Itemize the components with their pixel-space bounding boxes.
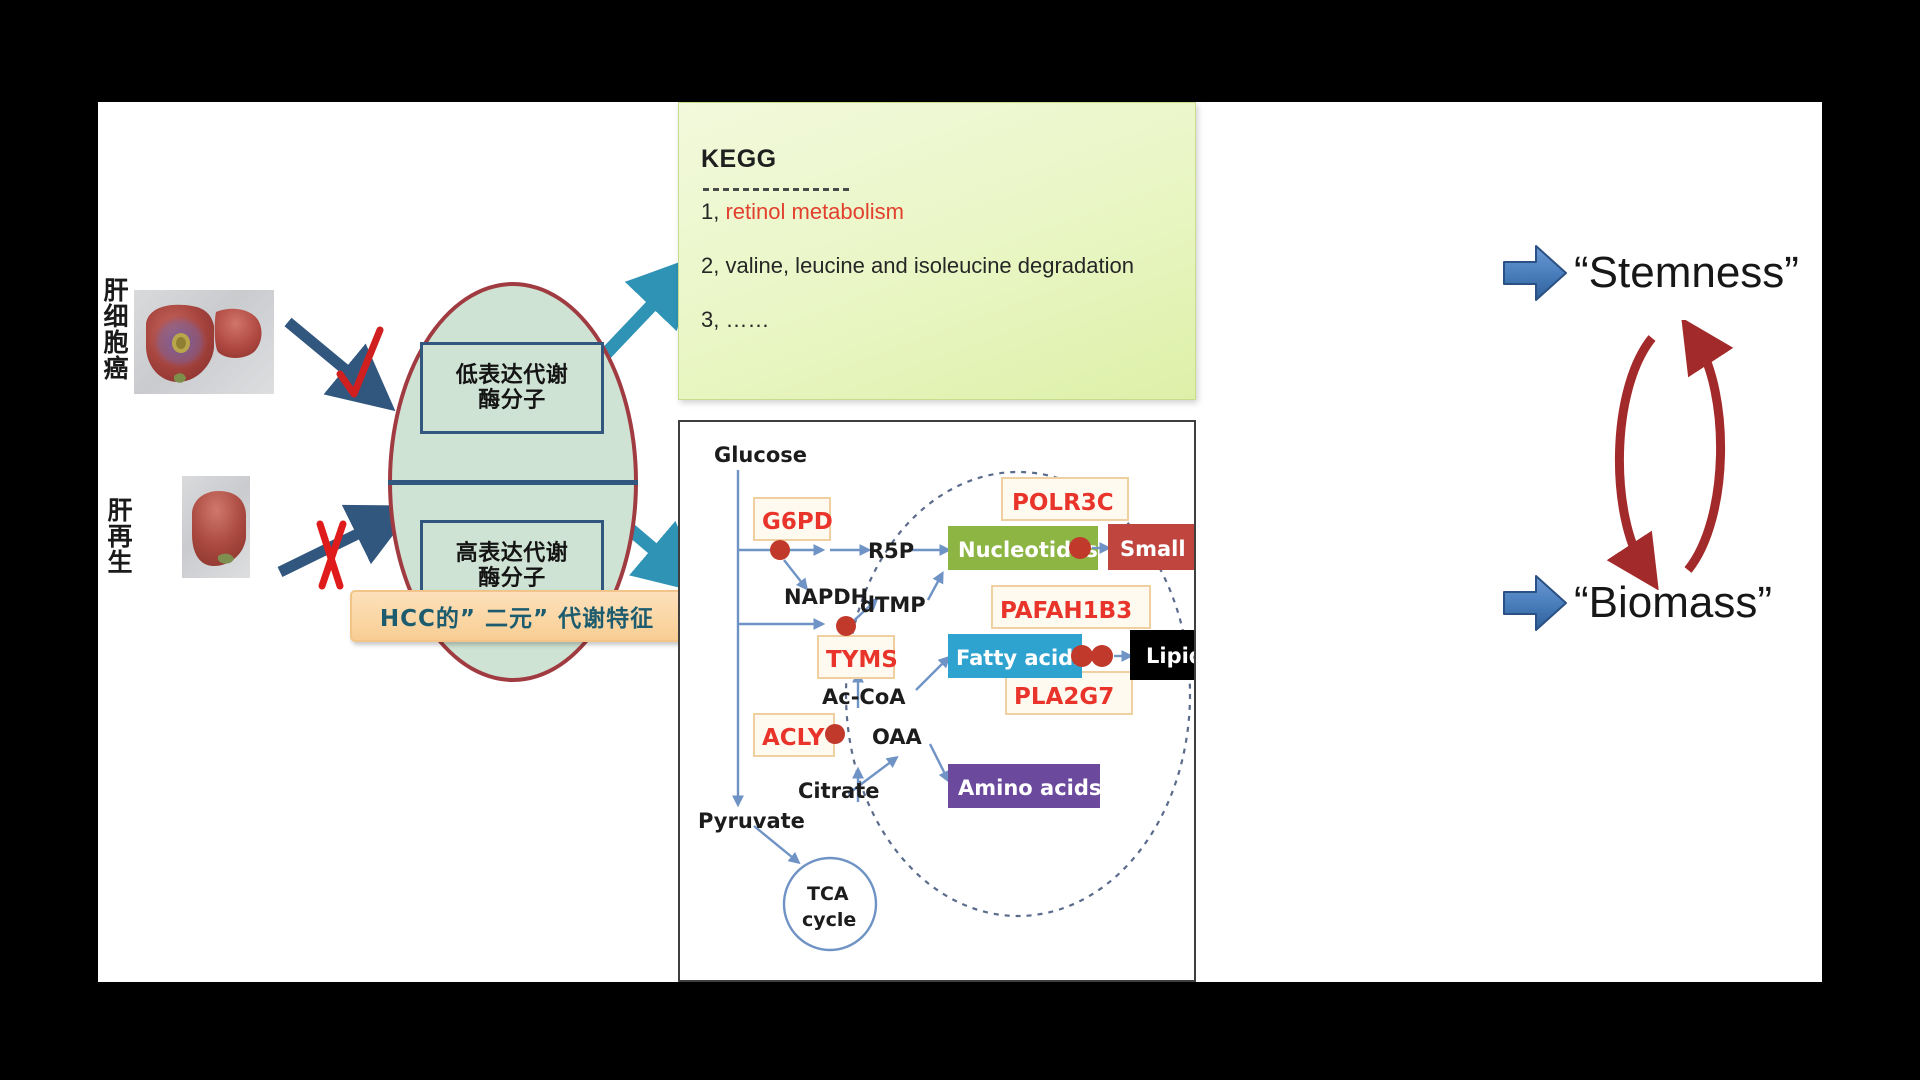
figure-white-panel: 肝细胞癌 [98, 102, 1822, 982]
label-ac-coa: Ac-CoA [822, 685, 906, 709]
arrow-dtmp-to-nucleotides [928, 574, 942, 600]
outcome-stemness: “Stemness” [1502, 242, 1799, 304]
kegg-divider-rule [703, 188, 851, 191]
label-tca-line2: cycle [802, 909, 856, 931]
cycle-arc-down [1619, 338, 1652, 568]
kegg-item-2[interactable]: 2, valine, leucine and isoleucine degrad… [701, 253, 1195, 279]
bidirectional-cycle-arrows [1570, 320, 1780, 590]
regenerating-liver-image [182, 476, 250, 578]
metabolic-pathway-panel: Glucose R5P NAPDH dTMP Ac-CoA OAA Citrat… [678, 420, 1196, 982]
label-tyms: TYMS [826, 647, 898, 673]
arrow-accoa-to-fatty-acids [916, 658, 948, 690]
enzyme-dot-pafah1b3 [1071, 645, 1093, 667]
block-arrow-right-icon-biomass [1502, 572, 1568, 634]
label-pafah1b3: PAFAH1B3 [1000, 598, 1132, 624]
enzyme-dot-pla2g7 [1091, 645, 1113, 667]
label-g6pd: G6PD [762, 509, 833, 535]
kegg-item-3-text: …… [719, 307, 769, 332]
ellipse-divider [388, 480, 638, 485]
kegg-item-2-number: 2, [701, 253, 719, 278]
label-pla2g7: PLA2G7 [1014, 684, 1114, 710]
cycle-arrows-svg [1570, 320, 1780, 590]
label-lipids: Lipids [1146, 644, 1194, 668]
label-polr3c: POLR3C [1012, 490, 1114, 516]
label-liver-regeneration: 肝再生 [106, 497, 131, 575]
low-expression-enzymes-text: 低表达代谢 酶分子 [456, 363, 569, 414]
arrow-hcc-to-ellipse [288, 322, 370, 390]
high-expression-enzymes-text: 高表达代谢 酶分子 [456, 541, 569, 592]
kegg-item-1-number: 1, [701, 199, 719, 224]
label-small-rnas: Small RNAs [1120, 537, 1194, 561]
arrow-regeneration-to-ellipse [280, 520, 386, 572]
arrow-oaa-to-amino-acids [930, 744, 948, 780]
label-r5p: R5P [868, 539, 914, 563]
label-glucose: Glucose [714, 443, 807, 467]
regenerating-liver-illustration [182, 476, 250, 578]
enzyme-dot-polr3c [1069, 537, 1091, 559]
block-arrow-right-icon-stemness [1502, 242, 1568, 304]
label-dtmp: dTMP [860, 593, 926, 617]
red-check-icon [340, 330, 380, 394]
kegg-item-1-text: retinol metabolism [719, 199, 904, 224]
low-enzyme-line-2: 酶分子 [478, 388, 546, 413]
enzyme-dot-g6pd [770, 540, 790, 560]
hcc-dual-metabolism-caption: HCC的” 二元” 代谢特征 [350, 590, 684, 642]
kegg-pathway-panel: KEGG 1, retinol metabolism 2, valine, le… [678, 102, 1196, 400]
label-oaa: OAA [872, 725, 923, 749]
kegg-item-1[interactable]: 1, retinol metabolism [701, 199, 1195, 225]
high-enzyme-line-1: 高表达代谢 [456, 541, 569, 566]
box-low-expression-enzymes[interactable]: 低表达代谢 酶分子 [420, 342, 604, 434]
figure-canvas: 肝细胞癌 [0, 0, 1920, 1080]
label-acly: ACLY [762, 725, 825, 751]
liver-tumor-illustration [134, 290, 274, 394]
label-tca-line1: TCA [807, 883, 849, 905]
label-amino-acids: Amino acids [958, 776, 1101, 800]
metabolic-pathway-diagram: Glucose R5P NAPDH dTMP Ac-CoA OAA Citrat… [680, 422, 1194, 980]
label-citrate: Citrate [798, 779, 879, 803]
label-pyruvate: Pyruvate [698, 809, 805, 833]
kegg-title: KEGG [701, 145, 1195, 174]
enzyme-dot-acly [825, 724, 845, 744]
outcome-biomass: “Biomass” [1502, 572, 1772, 634]
kegg-item-3-number: 3, [701, 307, 719, 332]
label-hepatocellular-carcinoma: 肝细胞癌 [102, 277, 127, 381]
kegg-item-2-text: valine, leucine and isoleucine degradati… [719, 253, 1134, 278]
outcome-label-stemness: “Stemness” [1574, 248, 1799, 298]
cycle-arc-up [1688, 340, 1721, 570]
label-napdh: NAPDH [784, 585, 868, 609]
arrow-to-napdh [784, 560, 806, 588]
kegg-item-3[interactable]: 3, …… [701, 307, 1195, 333]
red-x-icon [320, 524, 343, 586]
enzyme-dot-tyms [836, 616, 856, 636]
label-fatty-acids: Fatty acids [956, 646, 1086, 670]
outcome-label-biomass: “Biomass” [1574, 578, 1772, 628]
low-enzyme-line-1: 低表达代谢 [456, 363, 569, 388]
liver-with-tumor-image [134, 290, 274, 394]
high-enzyme-line-2: 酶分子 [478, 566, 546, 591]
